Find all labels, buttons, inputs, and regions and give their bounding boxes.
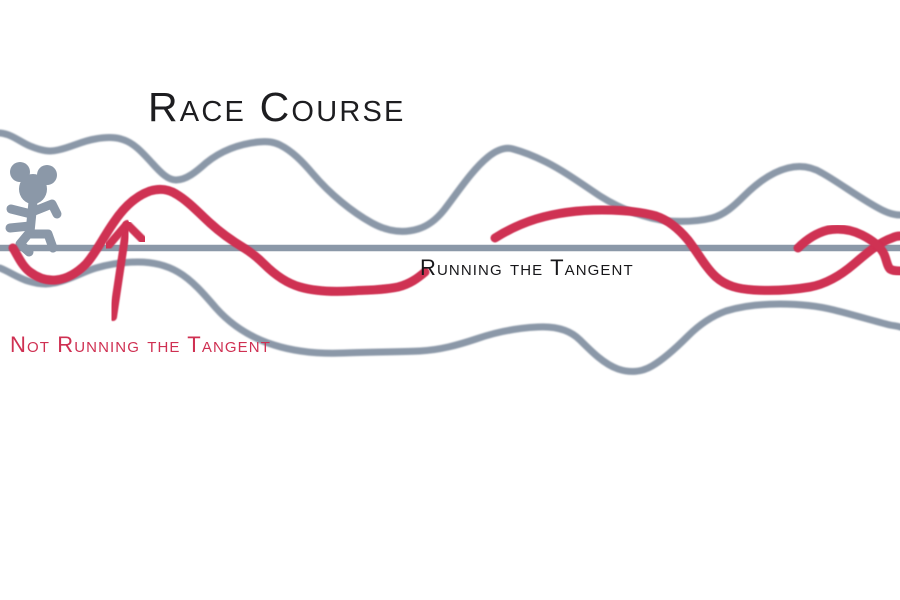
actual-path-segment-1 (13, 189, 425, 291)
runner-arm-back-lower (10, 226, 30, 228)
course-edge-upper-line (0, 133, 900, 231)
race-course-diagram: Race Course Running the Tangent Not Runn… (0, 0, 900, 600)
callout-arrow (108, 224, 143, 317)
callout-arrow-head-right (127, 224, 143, 240)
label-running-the-tangent: Running the Tangent (420, 255, 634, 281)
label-not-running-the-tangent: Not Running the Tangent (10, 332, 271, 358)
diagram-canvas (0, 0, 900, 600)
runner-arm-back (11, 209, 31, 214)
runner-figure-icon (10, 162, 57, 252)
page-title: Race Course (148, 84, 406, 131)
